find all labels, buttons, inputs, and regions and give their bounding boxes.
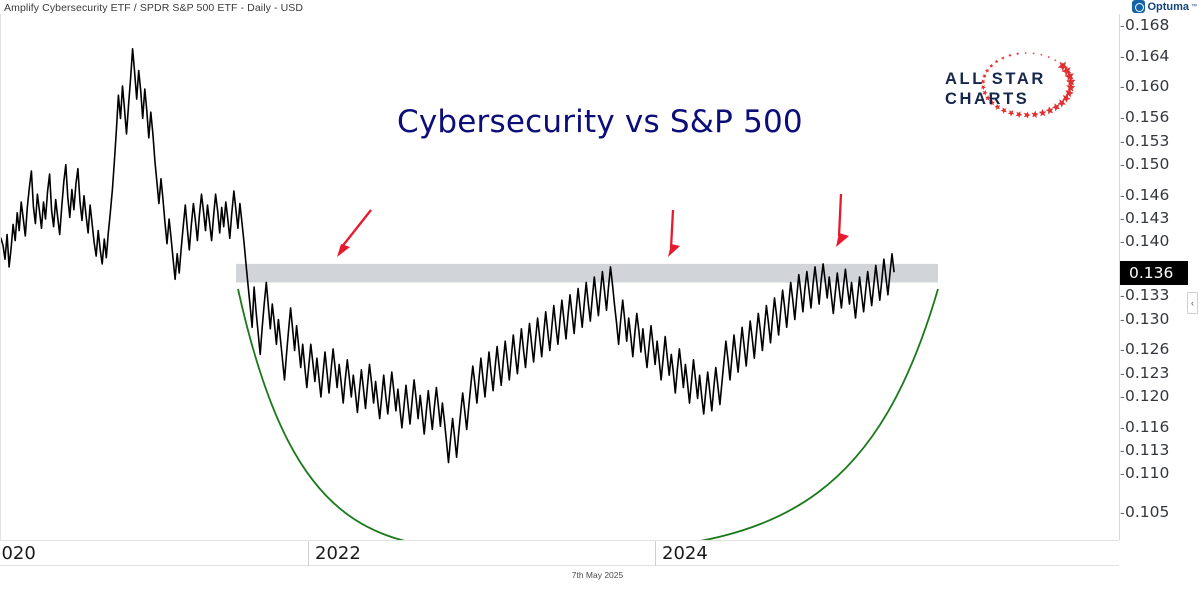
logo-star [1040, 53, 1042, 55]
logo-star [1024, 111, 1031, 118]
optuma-label: Optuma [1147, 1, 1189, 13]
current-price-tag: -0.136 [1120, 261, 1188, 285]
logo-star [1031, 111, 1038, 118]
logo-star [1039, 109, 1047, 116]
arrow-resistance-test-1 [337, 210, 371, 257]
chart-plot-area[interactable]: Cybersecurity vs S&P 500 ALL STAR CHARTS [0, 14, 1119, 540]
logo-star [1016, 52, 1019, 55]
logo-line-1: ALL STAR [945, 69, 1046, 89]
resistance-band [236, 264, 938, 283]
logo-line-2: CHARTS [945, 89, 1046, 109]
date-tick-2022: 2022 [308, 541, 361, 566]
footer-date-text: 7th May 2025 [572, 570, 624, 580]
price-tick: -0.164 [1120, 47, 1199, 65]
price-tick: -0.120 [1120, 387, 1199, 405]
all-star-charts-logo: ALL STAR CHARTS [939, 48, 1077, 122]
price-tick: -0.110 [1120, 464, 1199, 482]
logo-star [1016, 111, 1023, 118]
logo-star [1032, 52, 1034, 54]
price-tick: -0.150 [1120, 155, 1199, 173]
chart-window: Amplify Cybersecurity ETF / SPDR S&P 500… [0, 0, 1199, 590]
date-tick-2024: 2024 [655, 541, 708, 566]
price-tick: -0.140 [1120, 232, 1199, 250]
annotation-arrows [337, 194, 849, 257]
logo-star [1066, 83, 1075, 92]
price-tick: -0.146 [1120, 186, 1199, 204]
date-axis[interactable]: 202020222024 [0, 540, 1119, 566]
price-tick: -0.143 [1120, 209, 1199, 227]
logo-star [989, 64, 993, 68]
logo-star [1048, 56, 1050, 58]
logo-star [1008, 54, 1011, 57]
logo-star [1001, 56, 1005, 60]
price-tick: -0.153 [1120, 132, 1199, 150]
price-tick: -0.113 [1120, 441, 1199, 459]
optuma-watermark: Optuma ™ [1132, 0, 1197, 13]
price-tick: -0.156 [1120, 108, 1199, 126]
logo-star [1008, 110, 1015, 116]
date-tick-2020: 2020 [0, 541, 36, 566]
price-tick: -0.168 [1120, 16, 1199, 34]
logo-star [1024, 52, 1026, 54]
price-tick: -0.123 [1120, 364, 1199, 382]
price-tick: -0.116 [1120, 418, 1199, 436]
price-tick: -0.126 [1120, 340, 1199, 358]
price-axis[interactable]: -0.168-0.164-0.160-0.156-0.153-0.150-0.1… [1119, 14, 1199, 540]
chart-heading: Cybersecurity vs S&P 500 [397, 104, 803, 140]
price-tick: -0.105 [1120, 503, 1199, 521]
instrument-title: Amplify Cybersecurity ETF / SPDR S&P 500… [4, 2, 303, 14]
footer-date: 7th May 2025 [0, 570, 1199, 580]
trademark-symbol: ™ [1191, 4, 1197, 10]
price-tick: -0.160 [1120, 77, 1199, 95]
logo-star [1054, 59, 1056, 61]
cup-arc [238, 289, 938, 540]
logo-star [1052, 103, 1060, 111]
logo-wordmark: ALL STAR CHARTS [945, 69, 1046, 109]
arrow-resistance-test-2 [668, 210, 680, 257]
logo-star [995, 60, 999, 64]
optuma-logo-icon [1132, 0, 1145, 13]
arrow-resistance-test-3 [836, 194, 849, 247]
collapse-panel-button[interactable]: ‹ [1187, 292, 1198, 314]
logo-star [1057, 99, 1066, 107]
